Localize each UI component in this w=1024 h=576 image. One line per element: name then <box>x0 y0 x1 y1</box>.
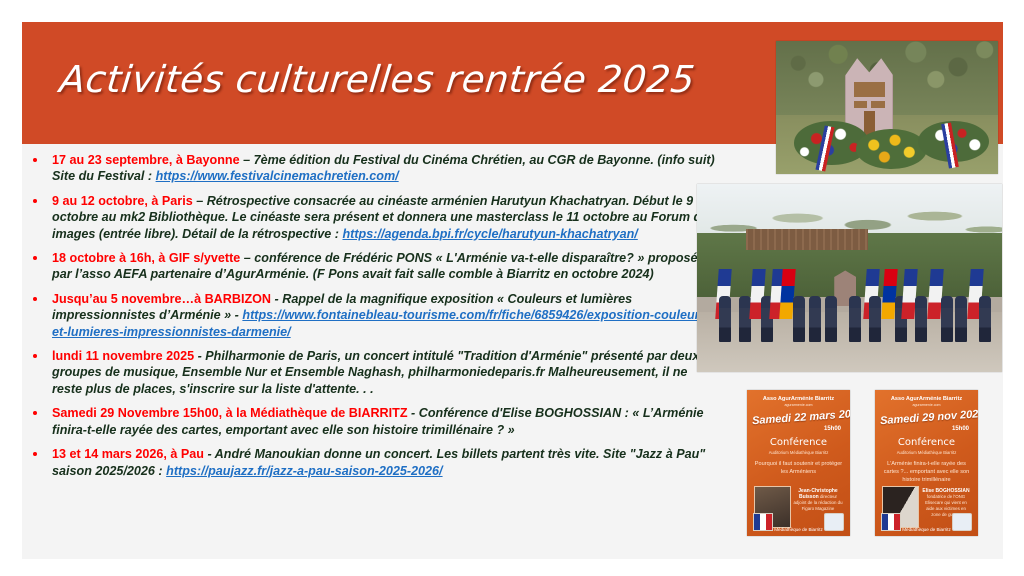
plaque-icon <box>854 82 885 97</box>
page-title: Activités culturelles rentrée 2025 <box>58 58 697 101</box>
conference-poster-march[interactable]: Asso AgurArménie Biarritz agurarmenie.co… <box>747 390 850 536</box>
bullet-link[interactable]: https://agenda.bpi.fr/cycle/harutyun-kha… <box>342 227 637 241</box>
attendee <box>849 296 861 342</box>
bullet-lead: 17 au 23 septembre, à Bayonne <box>52 153 243 167</box>
poster-organization: Asso AgurArménie Biarritz <box>747 396 850 402</box>
list-item: 17 au 23 septembre, à Bayonne – 7ème édi… <box>26 152 716 185</box>
flag-bearer <box>941 296 953 342</box>
poster-topic: Pourquoi il faut soutenir et protéger le… <box>754 460 843 476</box>
bullet-lead: 9 au 12 octobre, à Paris <box>52 194 196 208</box>
bullet-link[interactable]: https://www.festivalcinemachretien.com/ <box>156 169 399 183</box>
poster-organization: Asso AgurArménie Biarritz <box>875 396 978 402</box>
bullet-lead: 18 octobre à 16h, à GIF s/yvette <box>52 251 244 265</box>
memorial-stele-photo <box>776 41 998 174</box>
flag-bearer <box>979 296 991 342</box>
poster-website: agurarmenie.com <box>875 403 978 407</box>
poster-topic: L'Arménie finira-t-elle rayée des cartes… <box>882 460 971 484</box>
list-item: lundi 11 novembre 2025 - Philharmonie de… <box>26 348 716 397</box>
presentation-slide: Activités culturelles rentrée 2025 17 au… <box>0 0 1024 576</box>
list-item: 13 et 14 mars 2026, à Pau - André Manouk… <box>26 446 716 479</box>
poster-conference-label: Conférence <box>747 437 850 448</box>
flag-bearer <box>955 296 967 342</box>
ceremony-photo <box>697 184 1002 372</box>
bullet-lead: 13 et 14 mars 2026, à Pau <box>52 447 207 461</box>
poster-date: Samedi 22 mars 2025 <box>752 409 846 427</box>
attendee <box>793 296 805 342</box>
poster-footer: Médiathèque de Biarritz <box>875 527 978 532</box>
poster-venue: Auditorium Médiathèque Biarritz <box>747 450 850 455</box>
attendee <box>915 296 927 342</box>
list-item: 18 octobre à 16h, à GIF s/yvette – confé… <box>26 250 716 283</box>
bullet-lead: Samedi 29 Novembre 15h00, à la Médiathèq… <box>52 406 411 420</box>
plaque-small-left-icon <box>854 101 868 108</box>
plaque-small-right-icon <box>871 101 885 108</box>
bullet-lead: lundi 11 novembre 2025 <box>52 349 198 363</box>
poster-hour: 15h00 <box>952 426 969 432</box>
poster-hour: 15h00 <box>824 426 841 432</box>
flag-bearer <box>869 296 881 342</box>
poster-venue: Auditorium Médiathèque Biarritz <box>875 450 978 455</box>
wreath-center <box>856 129 927 169</box>
list-item: Jusqu’au 5 novembre…à BARBIZON - Rappel … <box>26 291 716 340</box>
poster-conference-label: Conférence <box>875 437 978 448</box>
poster-speaker-block: Jean-Christophe Buisson directeur adjoin… <box>793 488 843 512</box>
flag-bearer <box>719 296 731 342</box>
attendee <box>825 296 837 342</box>
bullet-link[interactable]: https://paujazz.fr/jazz-a-pau-saison-202… <box>166 464 442 478</box>
attendee <box>809 296 821 342</box>
poster-footer: Médiathèque de Biarritz <box>747 527 850 532</box>
list-item: Samedi 29 Novembre 15h00, à la Médiathèq… <box>26 405 716 438</box>
bullet-lead: Jusqu’au 5 novembre…à BARBIZON <box>52 292 275 306</box>
poster-date: Samedi 29 nov 2025 <box>880 409 974 427</box>
conference-poster-november[interactable]: Asso AgurArménie Biarritz agurarmenie.co… <box>875 390 978 536</box>
list-item: 9 au 12 octobre, à Paris – Rétrospective… <box>26 193 716 242</box>
poster-website: agurarmenie.com <box>747 403 850 407</box>
pergola-structure <box>746 229 868 250</box>
activities-list: 17 au 23 septembre, à Bayonne – 7ème édi… <box>26 152 716 487</box>
